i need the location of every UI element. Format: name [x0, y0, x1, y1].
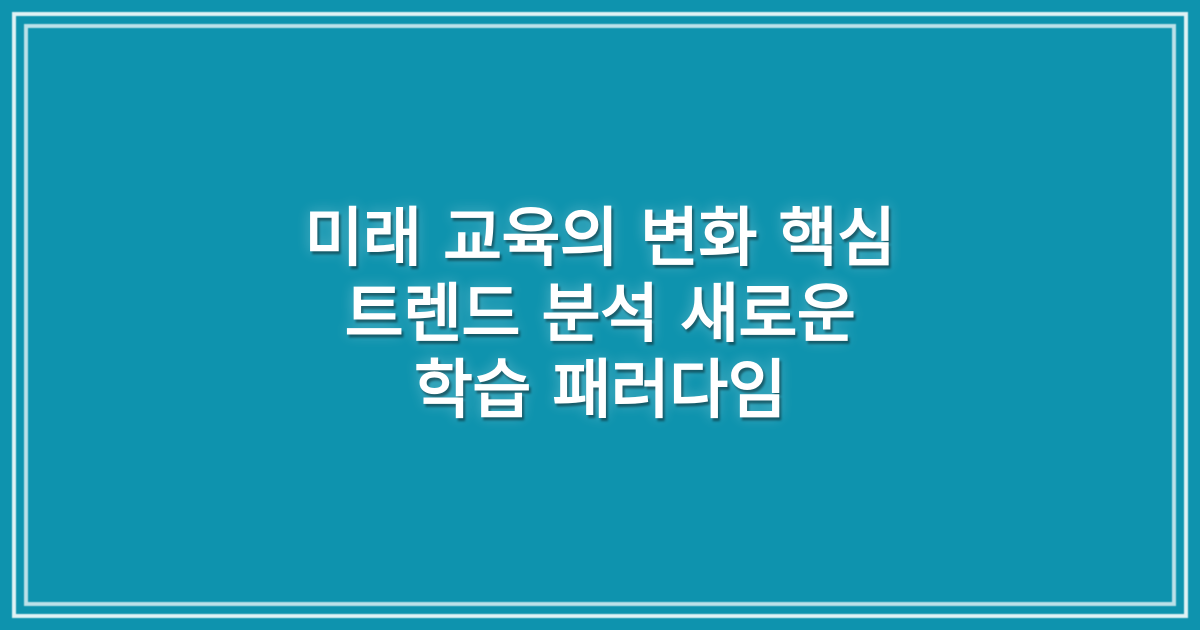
page-title: 미래 교육의 변화 핵심 트렌드 분석 새로운 학습 패러다임 [90, 201, 1110, 429]
title-line-2: 트렌드 분석 새로운 [345, 278, 856, 352]
title-line-1: 미래 교육의 변화 핵심 [305, 202, 896, 276]
thumbnail-canvas: 미래 교육의 변화 핵심 트렌드 분석 새로운 학습 패러다임 [0, 0, 1200, 630]
title-block: 미래 교육의 변화 핵심 트렌드 분석 새로운 학습 패러다임 [0, 0, 1200, 630]
title-line-3: 학습 패러다임 [414, 354, 786, 428]
